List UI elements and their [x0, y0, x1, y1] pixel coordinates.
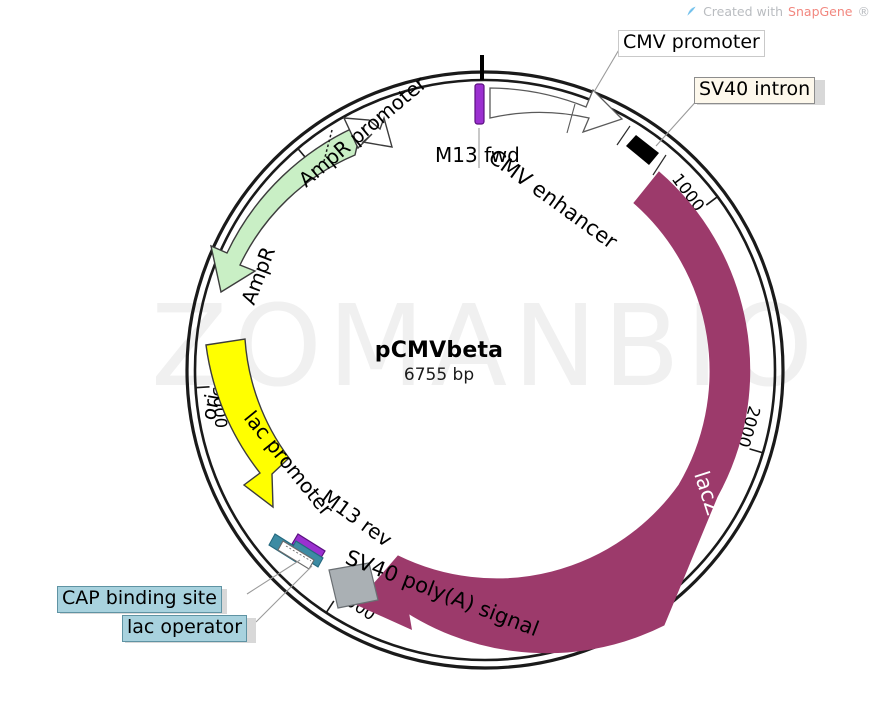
callout-lac-operator[interactable]: lac operator — [122, 615, 247, 642]
feature-cmv-promoter[interactable] — [567, 90, 622, 132]
label-m13-fwd: M13 fwd — [435, 143, 520, 167]
label-ampr-promoter: AmpR promoter — [294, 71, 432, 192]
callout-sv40-intron[interactable]: SV40 intron — [694, 77, 815, 104]
snapgene-watermark: Created with SnapGene® — [685, 4, 870, 19]
feature-sv40-intron[interactable] — [617, 126, 666, 175]
snapgene-logo-icon — [685, 5, 698, 18]
callout-cap-binding-site[interactable]: CAP binding site — [57, 586, 222, 613]
brand-name-snapgene: SnapGene — [788, 4, 852, 19]
callout-cmv-promoter[interactable]: CMV promoter — [618, 30, 765, 57]
tick-mark — [196, 387, 210, 388]
label-m13-rev: M13 rev — [317, 485, 397, 552]
tick-mark — [326, 601, 334, 613]
label-ori: ori — [196, 392, 224, 422]
brand-prefix: Created with — [703, 4, 783, 19]
brand-registered: ® — [858, 4, 871, 19]
